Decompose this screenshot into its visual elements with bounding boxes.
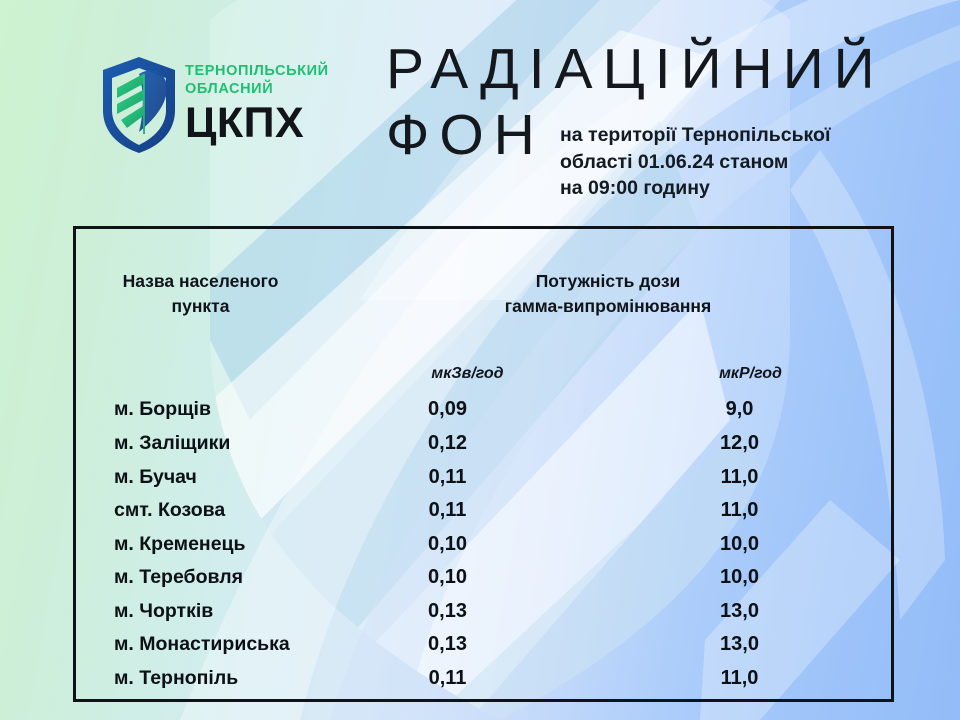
settlement-name: м. Тернопіль	[76, 662, 325, 696]
ur-value: 12,0	[610, 427, 891, 461]
usv-value: 0,13	[325, 595, 610, 629]
subtitle-line-3: на 09:00 годину	[560, 175, 910, 202]
ur-value: 10,0	[610, 528, 891, 562]
header-settlement-l1: Назва населеного	[76, 269, 325, 294]
settlement-name: м. Теребовля	[76, 561, 325, 595]
organization-logo: ТЕРНОПІЛЬСЬКИЙ ОБЛАСНИЙ ЦКПХ	[99, 52, 399, 164]
logo-acronym: ЦКПХ	[185, 100, 400, 147]
unit-blank-cell	[76, 358, 325, 390]
logo-line-2: ОБЛАСНИЙ	[185, 80, 400, 98]
ur-value: 11,0	[610, 494, 891, 528]
subtitle-line-1: на території Тернопільської	[560, 122, 910, 149]
table-body-row: м. Борщівм. Заліщиким. Бучачсмт. Козовам…	[76, 390, 891, 699]
shield-logo-icon	[99, 54, 179, 154]
ur-list: 9,012,011,011,010,010,013,013,011,0	[610, 393, 891, 695]
unit-microsievert: мкЗв/год	[325, 358, 610, 390]
logo-wordmark: ТЕРНОПІЛЬСЬКИЙ ОБЛАСНИЙ ЦКПХ	[185, 62, 400, 147]
ur-value: 13,0	[610, 595, 891, 629]
usv-value: 0,12	[325, 427, 610, 461]
header-settlement-l2: пункта	[76, 294, 325, 319]
unit-microroentgen: мкР/год	[610, 358, 891, 390]
usv-value: 0,13	[325, 628, 610, 662]
settlement-name: м. Заліщики	[76, 427, 325, 461]
usv-value: 0,10	[325, 561, 610, 595]
logo-line-1: ТЕРНОПІЛЬСЬКИЙ	[185, 62, 400, 80]
usv-column: 0,090,120,110,110,100,100,130,130,11	[325, 390, 610, 699]
settlement-name: м. Борщів	[76, 393, 325, 427]
usv-value: 0,11	[325, 461, 610, 495]
settlement-column: м. Борщівм. Заліщиким. Бучачсмт. Козовам…	[76, 390, 325, 699]
header-dose-rate: Потужність дози гамма-випромінювання	[325, 229, 891, 358]
usv-value: 0,09	[325, 393, 610, 427]
settlement-name: м. Монастириська	[76, 628, 325, 662]
title-line-1: РАДІАЦІЙНИЙ	[386, 36, 906, 102]
ur-value: 11,0	[610, 461, 891, 495]
settlement-name: м. Бучач	[76, 461, 325, 495]
settlement-name: м. Чортків	[76, 595, 325, 629]
table-unit-row: мкЗв/год мкР/год	[76, 358, 891, 390]
usv-list: 0,090,120,110,110,100,100,130,130,11	[325, 393, 610, 695]
ur-value: 9,0	[610, 393, 891, 427]
table-header-row: Назва населеного пункта Потужність дози …	[76, 229, 891, 358]
ur-value: 11,0	[610, 662, 891, 696]
page-subtitle: на території Тернопільської області 01.0…	[560, 122, 910, 202]
radiation-table: Назва населеного пункта Потужність дози …	[73, 226, 894, 702]
ur-column: 9,012,011,011,010,010,013,013,011,0	[610, 390, 891, 699]
header-dose-rate-l1: Потужність дози	[325, 269, 891, 294]
settlement-name: м. Кременець	[76, 528, 325, 562]
subtitle-line-2: області 01.06.24 станом	[560, 149, 910, 176]
ur-value: 13,0	[610, 628, 891, 662]
settlement-list: м. Борщівм. Заліщиким. Бучачсмт. Козовам…	[76, 393, 325, 695]
usv-value: 0,11	[325, 662, 610, 696]
header-settlement: Назва населеного пункта	[76, 229, 325, 358]
settlement-name: смт. Козова	[76, 494, 325, 528]
usv-value: 0,11	[325, 494, 610, 528]
ur-value: 10,0	[610, 561, 891, 595]
poster-canvas: ТЕРНОПІЛЬСЬКИЙ ОБЛАСНИЙ ЦКПХ РАДІАЦІЙНИЙ…	[0, 0, 960, 720]
header-dose-rate-l2: гамма-випромінювання	[325, 294, 891, 319]
usv-value: 0,10	[325, 528, 610, 562]
